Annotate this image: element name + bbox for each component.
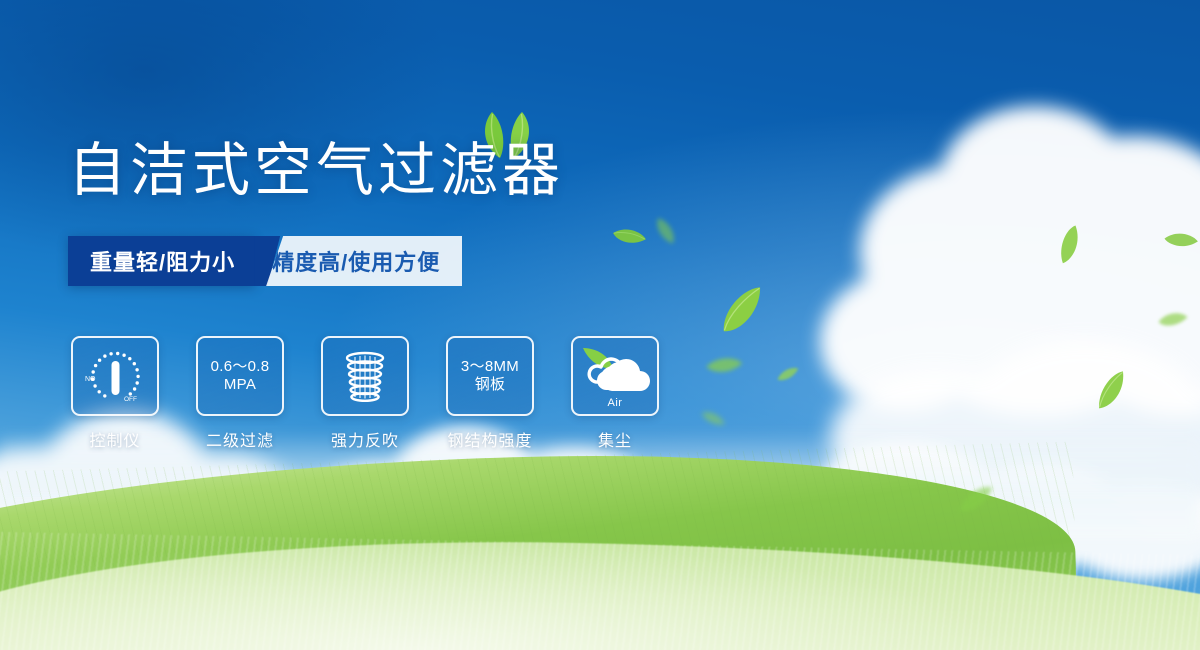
feature-tile[interactable]: Air — [571, 336, 659, 416]
tile-text-line1: 0.6～0.8 — [211, 358, 270, 375]
pressure-text-icon: 0.6～0.8 MPA — [211, 358, 270, 393]
feature-item[interactable]: 0.6～0.8 MPA 二级过滤 — [197, 336, 283, 451]
air-label: Air — [573, 397, 657, 409]
tile-text-line2: MPA — [211, 376, 270, 394]
gauge-max-label: OFF — [124, 396, 137, 403]
grass-field — [0, 430, 1200, 650]
subtitle-bar: 重量轻/阻力小 精度高/使用方便 — [68, 236, 462, 286]
feature-tile[interactable]: NO OFF — [71, 336, 159, 416]
gauge-icon: NO OFF — [80, 345, 150, 407]
tile-text-line2: 钢板 — [461, 376, 519, 394]
feature-list: NO OFF 控制仪 0.6～0.8 MPA 二级过滤 — [72, 336, 658, 451]
product-hero-banner: 自洁式空气过滤器 重量轻/阻力小 精度高/使用方便 — [0, 0, 1200, 650]
gauge-min-label: NO — [85, 376, 96, 383]
feature-caption: 强力反吹 — [331, 427, 399, 451]
page-title: 自洁式空气过滤器 — [68, 142, 564, 200]
cloud-air-icon — [579, 346, 651, 400]
steel-plate-text-icon: 3～8MM 钢板 — [461, 358, 519, 393]
tile-text-line1: 3～8MM — [461, 358, 519, 375]
feature-caption: 控制仪 — [89, 427, 140, 451]
filter-cartridge-icon — [334, 345, 396, 407]
feature-caption: 集尘 — [598, 427, 632, 451]
subtitle-right-segment: 精度高/使用方便 — [266, 236, 462, 286]
feature-item[interactable]: 3～8MM 钢板 钢结构强度 — [447, 336, 533, 451]
feature-tile[interactable] — [321, 336, 409, 416]
subtitle-left-segment: 重量轻/阻力小 — [68, 236, 255, 286]
feature-item[interactable]: Air 集尘 — [572, 336, 658, 451]
ground-highlight — [0, 520, 1200, 650]
feature-item[interactable]: 强力反吹 — [322, 336, 408, 451]
feature-tile[interactable]: 0.6～0.8 MPA — [196, 336, 284, 416]
feature-item[interactable]: NO OFF 控制仪 — [72, 336, 158, 451]
feature-caption: 二级过滤 — [206, 427, 274, 451]
feature-tile[interactable]: 3～8MM 钢板 — [446, 336, 534, 416]
feature-caption: 钢结构强度 — [447, 427, 532, 451]
